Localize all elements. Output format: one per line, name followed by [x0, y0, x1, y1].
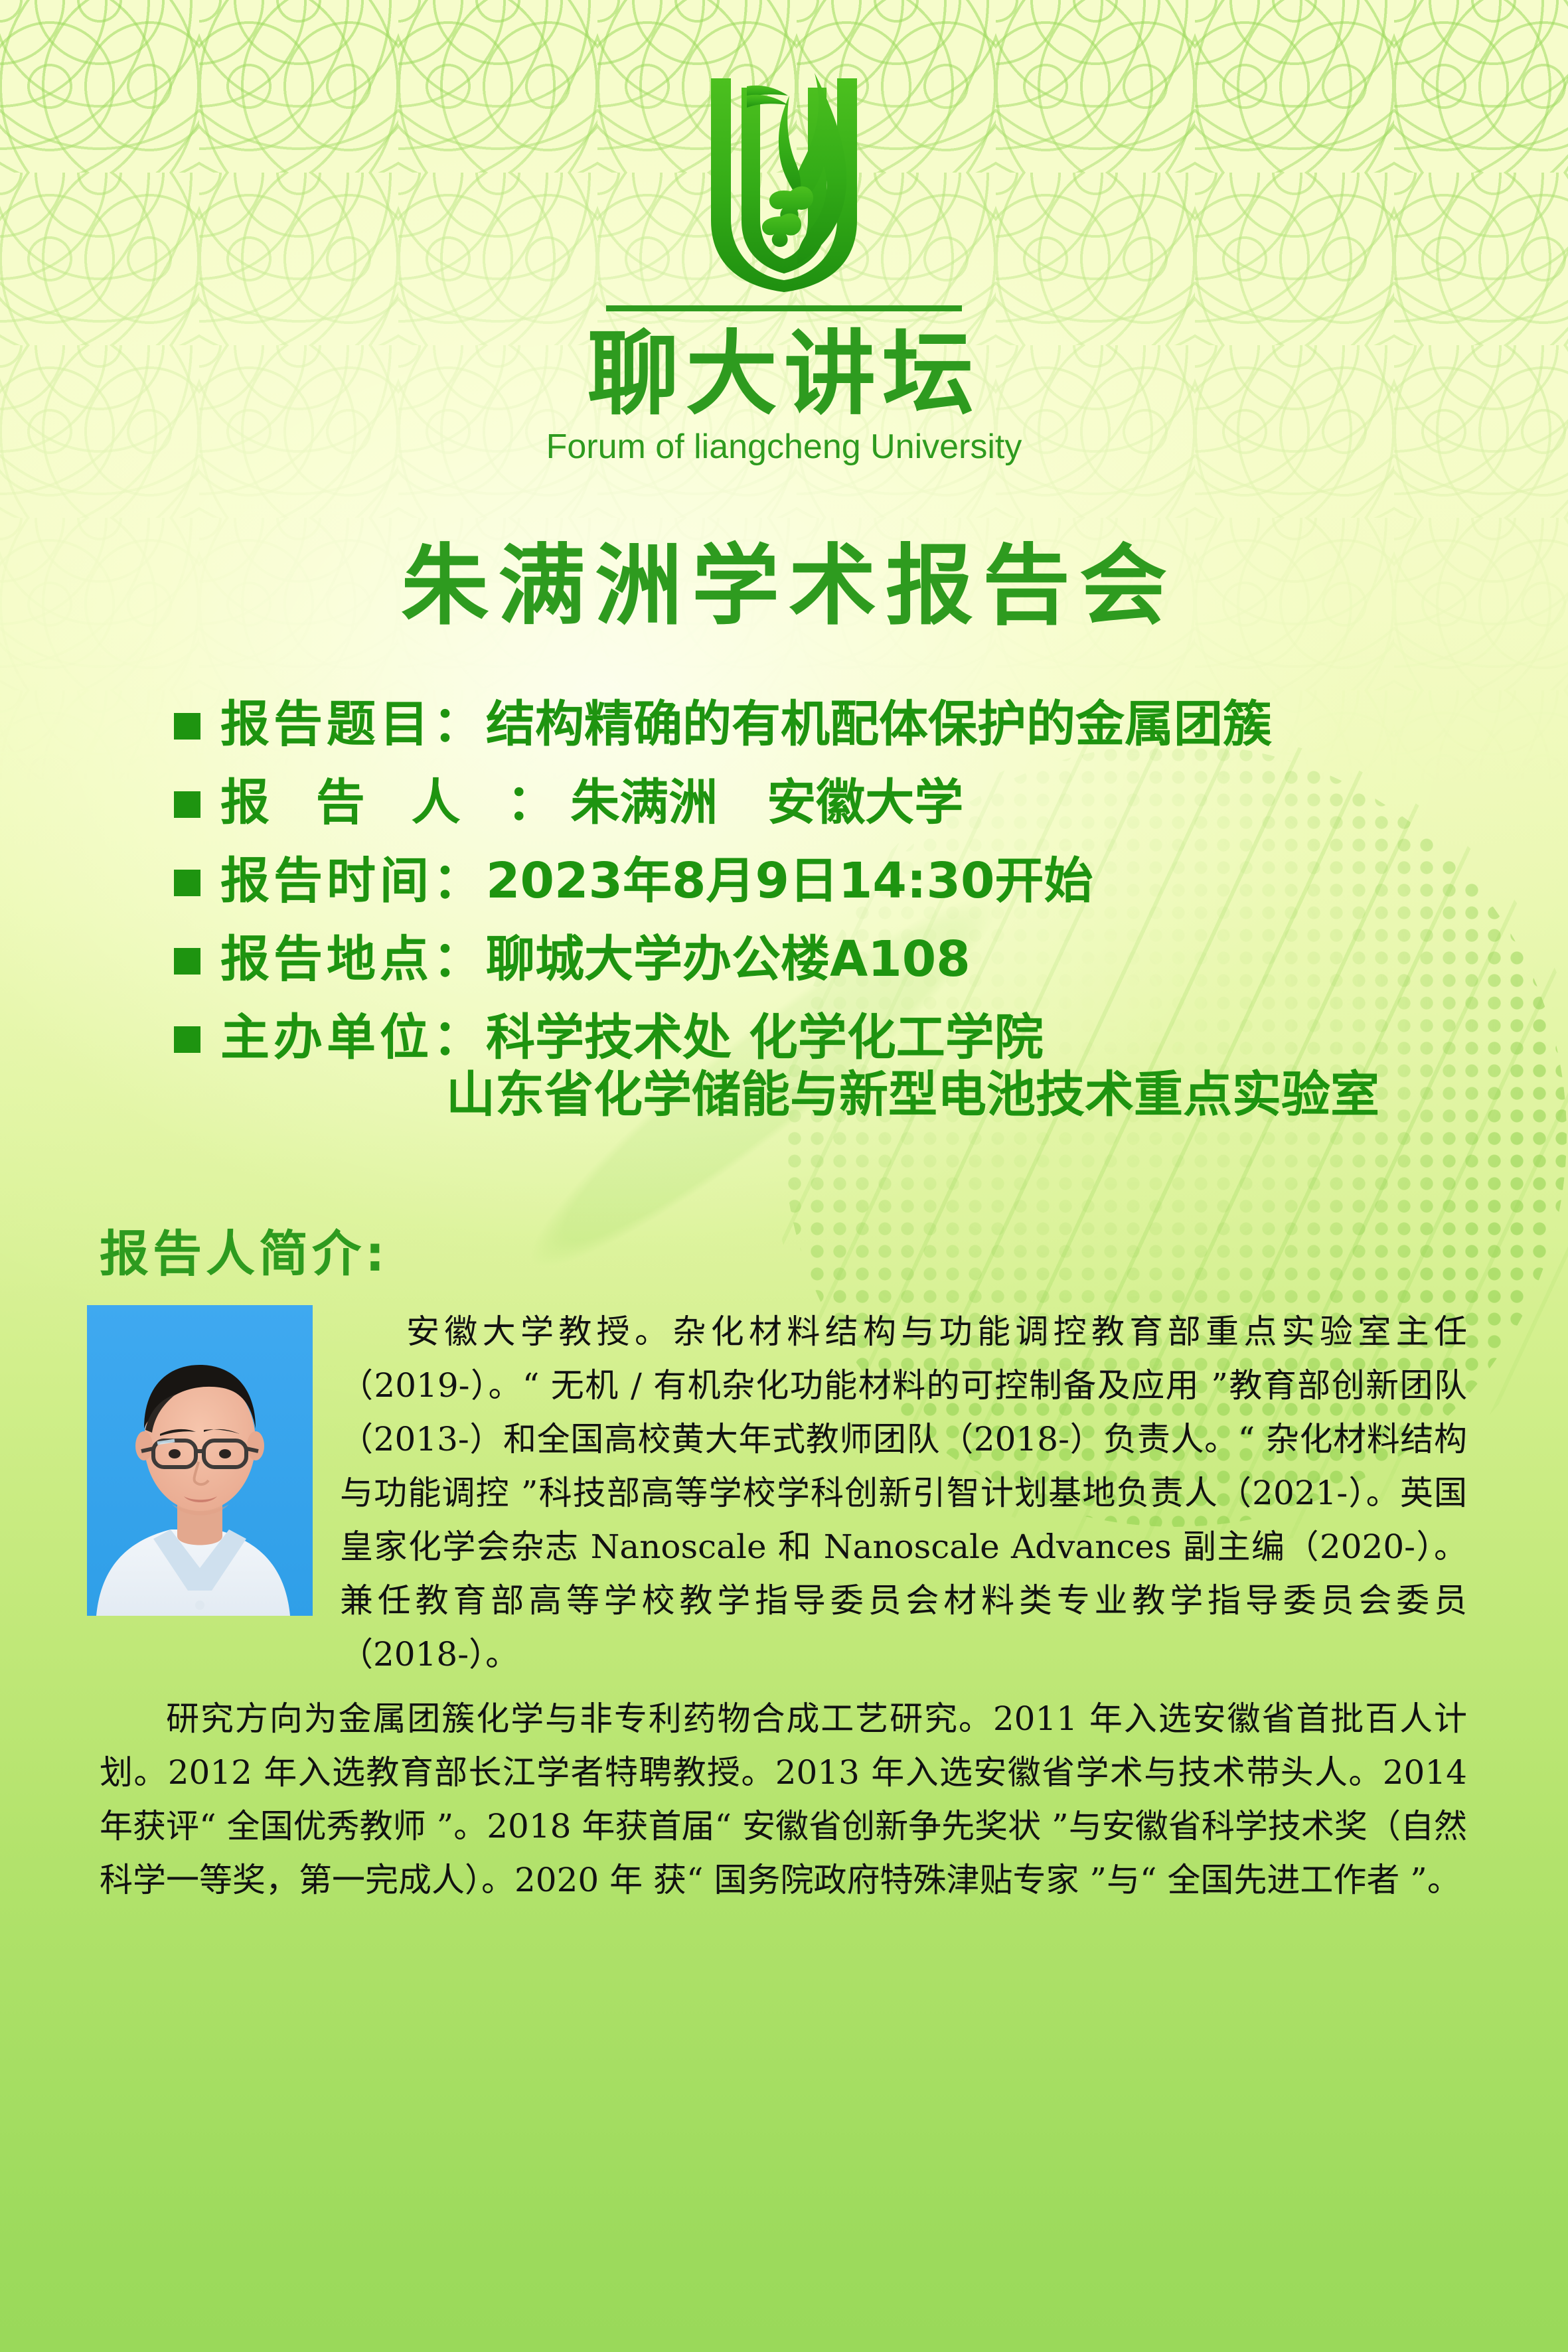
info-row-venue: 报告地点：聊城大学办公楼A108 [174, 929, 1475, 993]
info-line: 报 告 人 ：朱满洲 安徽大学 [220, 773, 963, 832]
info-row-organizer: 主办单位：科学技术处 化学化工学院 山东省化学储能与新型电池技术重点实验室 [174, 1008, 1475, 1125]
info-value-organizer: 科学技术处 化学化工学院 [486, 1009, 1044, 1066]
info-line: 报告时间：2023年8月9日14:30开始 [220, 851, 1093, 911]
info-line: 主办单位：科学技术处 化学化工学院 [220, 1009, 1044, 1066]
info-value-speaker: 朱满洲 安徽大学 [570, 774, 963, 831]
bullet-square-icon [174, 870, 200, 896]
info-value-time: 2023年8月9日14:30开始 [486, 852, 1093, 909]
info-row-topic: 报告题目：结构精确的有机配体保护的金属团簇 [174, 694, 1475, 758]
info-label-speaker: 报 告 人 ： [220, 774, 570, 831]
logo-title-english: Forum of liangcheng University [546, 430, 1022, 464]
bullet-square-icon [174, 791, 200, 818]
info-label-organizer: 主办单位： [220, 1009, 486, 1066]
logo-title-chinese: 聊大讲坛 [588, 329, 980, 420]
bullet-square-icon [174, 713, 200, 740]
logo-block: 聊大讲坛 Forum of liangcheng University [0, 66, 1568, 464]
info-label-time: 报告时间： [220, 852, 486, 909]
info-line: 报告题目：结构精确的有机配体保护的金属团簇 [220, 694, 1272, 754]
poster-root: 聊大讲坛 Forum of liangcheng University 朱满洲学… [0, 0, 1568, 2352]
page-title: 朱满洲学术报告会 [0, 538, 1568, 636]
info-value-venue: 聊城大学办公楼A108 [486, 931, 971, 988]
info-row-speaker: 报 告 人 ：朱满洲 安徽大学 [174, 773, 1475, 836]
info-line: 报告地点：聊城大学办公楼A108 [220, 929, 971, 989]
info-row-time: 报告时间：2023年8月9日14:30开始 [174, 851, 1475, 915]
info-label-venue: 报告地点： [220, 931, 486, 988]
university-shield-emblem-icon [672, 66, 896, 292]
logo-divider-rule [606, 305, 962, 311]
event-info-list: 报告题目：结构精确的有机配体保护的金属团簇 报 告 人 ：朱满洲 安徽大学 报告… [174, 694, 1475, 1140]
bullet-square-icon [174, 948, 200, 975]
bio-heading: 报告人简介: [100, 1229, 389, 1279]
info-value-topic: 结构精确的有机配体保护的金属团簇 [486, 696, 1272, 753]
info-label-topic: 报告题目： [220, 696, 486, 753]
info-value-organizer-lab: 山东省化学储能与新型电池技术重点实验室 [446, 1065, 1379, 1125]
portrait-text-wrap-spacer [100, 1305, 340, 1637]
bio-text-block: 安徽大学教授。杂化材料结构与功能调控教育部重点实验室主任（2019-）。“ 无机… [100, 1305, 1467, 1907]
bio-paragraph-2: 研究方向为金属团簇化学与非专利药物合成工艺研究。2011 年入选安徽省首批百人计… [100, 1692, 1467, 1907]
bullet-square-icon [174, 1026, 200, 1053]
